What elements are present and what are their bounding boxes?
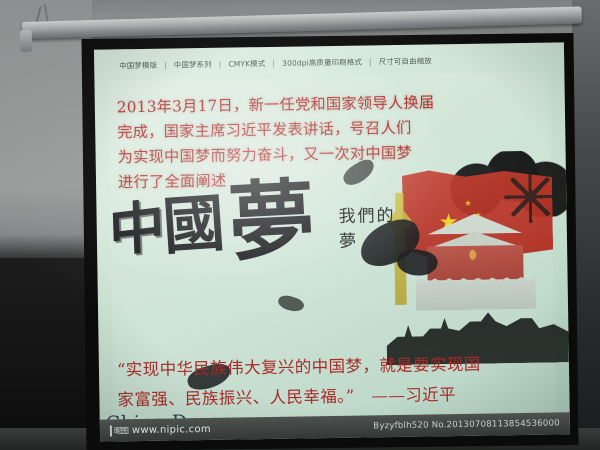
slide-header-strip: 中国梦模版 | 中国梦系列 | CMYK模式 | 300dpi高质量印刷格式 |… <box>112 51 546 75</box>
calligraphy-char-guo: 國 <box>161 192 227 258</box>
calligraphy-title: 中 國 夢 我們的夢 China Dream 和谐之梦、和平之梦、发展之梦 <box>100 173 402 303</box>
footer-left-group: 昵图 www.nipic.com <box>110 423 211 436</box>
slide-quote: “实现中华民族伟大复兴的中国梦，就是要实现国 家富强、民族振兴、人民幸福。” —… <box>117 349 548 416</box>
header-item-3: 300dpi高质量印刷格式 <box>275 56 369 68</box>
gate-body <box>427 245 524 281</box>
flag-star-1: ★ <box>464 200 471 208</box>
calligraphy-char-zhong: 中 <box>108 198 165 261</box>
header-item-2: CMYK模式 <box>221 58 272 70</box>
header-item-1: 中国梦系列 <box>167 59 219 71</box>
header-item-4: 尺寸可自由缩放 <box>372 55 439 67</box>
roller-end-cap <box>20 30 33 52</box>
lantern-icon <box>469 250 476 260</box>
footer-credit: Byzyfblh520 No.20130708113854536000 <box>373 418 560 431</box>
header-item-0: 中国梦模版 <box>112 60 164 72</box>
projected-slide: 中国梦模版 | 中国梦系列 | CMYK模式 | 300dpi高质量印刷格式 |… <box>94 42 570 441</box>
calligraphy-char-meng: 夢 <box>227 177 317 267</box>
nipic-logo-icon: 昵图 <box>110 425 128 436</box>
gate-roof-upper <box>413 213 537 235</box>
left-wall-shadow <box>0 258 92 450</box>
footer-url[interactable]: www.nipic.com <box>132 423 211 435</box>
gate-base-wall <box>416 277 536 311</box>
photo-scene: 中国梦模版 | 中国梦系列 | CMYK模式 | 300dpi高质量印刷格式 |… <box>0 0 600 450</box>
